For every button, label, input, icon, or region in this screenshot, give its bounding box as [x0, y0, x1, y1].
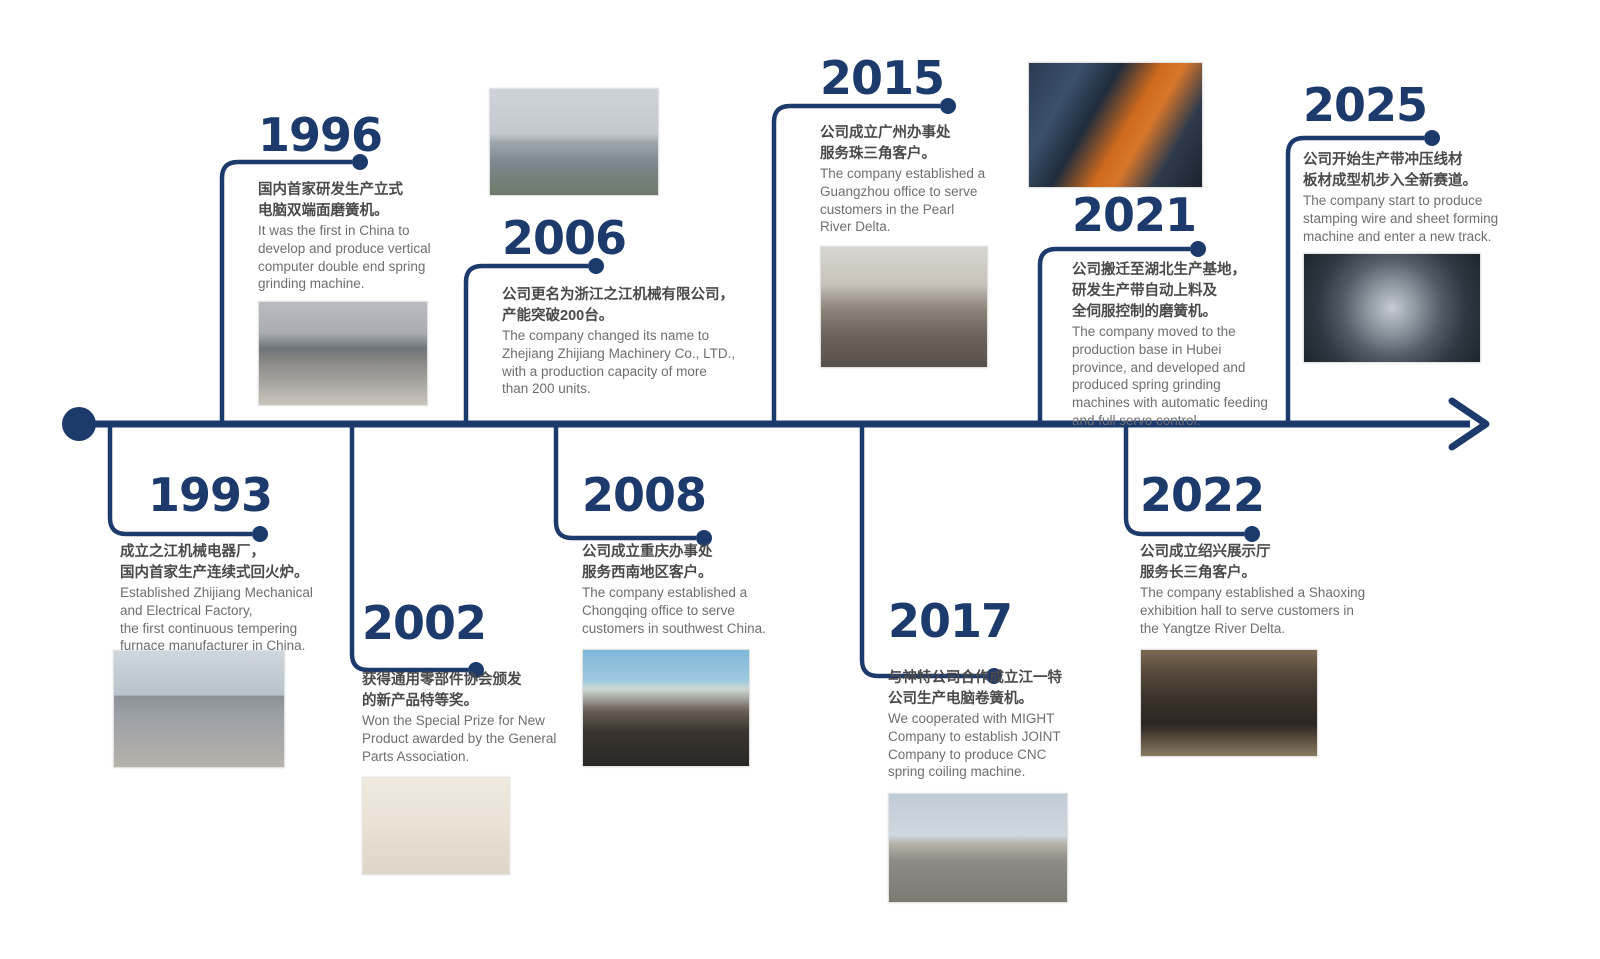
- event-year-1993: 1993: [148, 472, 358, 518]
- event-cn-2008: 公司成立重庆办事处 服务西南地区客户。: [582, 542, 797, 584]
- event-photo-2008: [582, 649, 750, 767]
- event-cn-2021: 公司搬迁至湖北生产基地， 研发生产带自动上料及 全伺服控制的磨簧机。: [1072, 260, 1287, 323]
- event-cn-2006: 公司更名为浙江之江机械有限公司， 产能突破200台。: [502, 285, 752, 327]
- event-text-2008: 公司成立重庆办事处 服务西南地区客户。 The company establis…: [582, 542, 797, 637]
- timeline-start-dot: [62, 407, 96, 441]
- event-cn-1996: 国内首家研发生产立式 电脑双端面磨簧机。: [258, 180, 458, 222]
- timeline-event-2021[interactable]: 2021 公司搬迁至湖北生产基地， 研发生产带自动上料及 全伺服控制的磨簧机。 …: [1072, 192, 1287, 430]
- event-year-2017: 2017: [888, 598, 1088, 644]
- event-photo-2025: [1303, 253, 1481, 363]
- event-en-2021: The company moved to the production base…: [1072, 323, 1287, 430]
- timeline-event-2017[interactable]: 2017 与神特公司合作成立江一特 公司生产电脑卷簧机。 We cooperat…: [888, 598, 1088, 903]
- event-cn-2025: 公司开始生产带冲压线材 板材成型机步入全新赛道。: [1303, 150, 1518, 192]
- event-text-2021: 公司搬迁至湖北生产基地， 研发生产带自动上料及 全伺服控制的磨簧机。 The c…: [1072, 260, 1287, 430]
- event-year-2015: 2015: [820, 55, 1010, 101]
- event-en-2006: The company changed its name to Zhejiang…: [502, 327, 752, 398]
- event-text-1996: 国内首家研发生产立式 电脑双端面磨簧机。 It was the first in…: [258, 180, 458, 293]
- event-year-1996: 1996: [258, 112, 458, 158]
- timeline-event-2006[interactable]: 2006 公司更名为浙江之江机械有限公司， 产能突破200台。 The comp…: [502, 215, 752, 398]
- event-en-2002: Won the Special Prize for New Product aw…: [362, 712, 577, 765]
- event-cn-2017: 与神特公司合作成立江一特 公司生产电脑卷簧机。: [888, 668, 1088, 710]
- event-text-2025: 公司开始生产带冲压线材 板材成型机步入全新赛道。 The company sta…: [1303, 150, 1518, 245]
- event-text-2006: 公司更名为浙江之江机械有限公司， 产能突破200台。 The company c…: [502, 285, 752, 398]
- timeline-event-1996[interactable]: 1996 国内首家研发生产立式 电脑双端面磨簧机。 It was the fir…: [258, 112, 458, 406]
- event-year-2021: 2021: [1072, 192, 1287, 238]
- timeline-event-2008[interactable]: 2008 公司成立重庆办事处 服务西南地区客户。 The company est…: [582, 472, 797, 767]
- event-year-2022: 2022: [1140, 472, 1390, 518]
- timeline-event-2022[interactable]: 2022 公司成立绍兴展示厅 服务长三角客户。 The company esta…: [1140, 472, 1390, 757]
- event-photo-2021: [1028, 62, 1203, 188]
- event-en-2017: We cooperated with MIGHT Company to esta…: [888, 710, 1088, 781]
- event-text-2017: 与神特公司合作成立江一特 公司生产电脑卷簧机。 We cooperated wi…: [888, 668, 1088, 781]
- event-cn-2015: 公司成立广州办事处 服务珠三角客户。: [820, 123, 1010, 165]
- timeline-infographic: 1996 国内首家研发生产立式 电脑双端面磨簧机。 It was the fir…: [0, 0, 1600, 959]
- event-year-2008: 2008: [582, 472, 797, 518]
- event-cn-2002: 获得通用零部件协会颁发 的新产品特等奖。: [362, 670, 577, 712]
- event-photo-2006: [489, 88, 659, 196]
- event-photo-1993: [113, 650, 285, 768]
- timeline-event-2002[interactable]: 2002 获得通用零部件协会颁发 的新产品特等奖。 Won the Specia…: [362, 600, 577, 875]
- event-text-2002: 获得通用零部件协会颁发 的新产品特等奖。 Won the Special Pri…: [362, 670, 577, 765]
- event-photo-2022: [1140, 649, 1318, 757]
- event-text-2015: 公司成立广州办事处 服务珠三角客户。 The company establish…: [820, 123, 1010, 236]
- event-photo-2017: [888, 793, 1068, 903]
- event-en-1993: Established Zhijiang Mechanical and Elec…: [120, 584, 358, 655]
- event-year-2025: 2025: [1303, 82, 1518, 128]
- event-photo-2015: [820, 246, 988, 368]
- event-en-2008: The company established a Chongqing offi…: [582, 584, 797, 637]
- event-cn-1993: 成立之江机械电器厂， 国内首家生产连续式回火炉。: [120, 542, 358, 584]
- event-en-2025: The company start to produce stamping wi…: [1303, 192, 1518, 245]
- timeline-arrow-head: [1452, 401, 1486, 447]
- timeline-event-1993[interactable]: 1993 成立之江机械电器厂， 国内首家生产连续式回火炉。 Establishe…: [148, 472, 358, 655]
- event-year-2002: 2002: [362, 600, 577, 646]
- timeline-event-2015[interactable]: 2015 公司成立广州办事处 服务珠三角客户。 The company esta…: [820, 55, 1010, 368]
- event-text-1993: 成立之江机械电器厂， 国内首家生产连续式回火炉。 Established Zhi…: [148, 542, 358, 655]
- event-photo-1996: [258, 301, 428, 406]
- timeline-event-2025[interactable]: 2025 公司开始生产带冲压线材 板材成型机步入全新赛道。 The compan…: [1303, 82, 1518, 363]
- event-year-2006: 2006: [502, 215, 752, 261]
- event-cn-2022: 公司成立绍兴展示厅 服务长三角客户。: [1140, 542, 1390, 584]
- event-en-1996: It was the first in China to develop and…: [258, 222, 458, 293]
- event-photo-2002: [362, 777, 510, 875]
- event-text-2022: 公司成立绍兴展示厅 服务长三角客户。 The company establish…: [1140, 542, 1390, 637]
- event-en-2015: The company established a Guangzhou offi…: [820, 165, 1010, 236]
- event-en-2022: The company established a Shaoxing exhib…: [1140, 584, 1390, 637]
